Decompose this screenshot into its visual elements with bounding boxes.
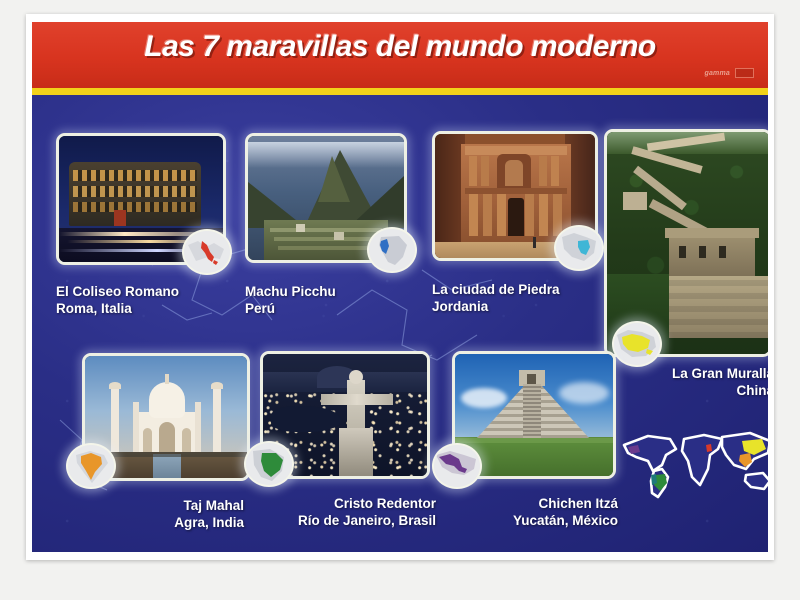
wonder-name: La ciudad de Piedra bbox=[432, 281, 560, 298]
wonder-name: Cristo Redentor bbox=[240, 495, 436, 512]
header-band: Las 7 maravillas del mundo moderno gamma bbox=[32, 22, 768, 88]
publisher-name: gamma bbox=[704, 70, 730, 77]
wonder-location: Río de Janeiro, Brasil bbox=[240, 512, 436, 529]
wonder-location: Yucatán, México bbox=[424, 512, 618, 529]
page-title: Las 7 maravillas del mundo moderno bbox=[32, 30, 768, 64]
caption-taj-mahal: Taj Mahal Agra, India bbox=[54, 497, 244, 531]
wonder-location: Jordania bbox=[432, 298, 560, 315]
poster-frame: Las 7 maravillas del mundo moderno gamma bbox=[26, 14, 774, 560]
wonder-name: Taj Mahal bbox=[54, 497, 244, 514]
wonder-card-machu-picchu[interactable]: Machu Picchu Perú bbox=[245, 133, 440, 333]
caption-machu-picchu: Machu Picchu Perú bbox=[245, 283, 336, 317]
wonder-card-petra[interactable]: La ciudad de Piedra Jordania bbox=[432, 131, 632, 331]
caption-chichen-itza: Chichen Itzá Yucatán, México bbox=[424, 495, 618, 529]
badge-mexico bbox=[432, 443, 482, 489]
map-highlight-peru bbox=[651, 474, 657, 485]
caption-coliseo: El Coliseo Romano Roma, Italia bbox=[56, 283, 179, 317]
wonder-card-gran-muralla[interactable]: La Gran Muralla China bbox=[604, 129, 768, 419]
badge-jordania bbox=[554, 225, 604, 271]
wonder-card-coliseo[interactable]: El Coliseo Romano Roma, Italia bbox=[56, 133, 256, 333]
badge-brasil bbox=[244, 441, 294, 487]
poster: Las 7 maravillas del mundo moderno gamma bbox=[32, 22, 768, 552]
caption-petra: La ciudad de Piedra Jordania bbox=[432, 281, 560, 315]
wonder-name: Chichen Itzá bbox=[424, 495, 618, 512]
wonder-location: Agra, India bbox=[54, 514, 244, 531]
wonder-card-chichen-itza[interactable]: Chichen Itzá Yucatán, México bbox=[424, 351, 624, 541]
world-map-graphic bbox=[618, 425, 768, 503]
badge-india bbox=[66, 443, 116, 489]
badge-peru bbox=[367, 227, 417, 273]
yellow-divider bbox=[32, 88, 768, 95]
publisher-logo: gamma bbox=[704, 68, 754, 78]
wonder-name: El Coliseo Romano bbox=[56, 283, 179, 300]
wonder-location: Roma, Italia bbox=[56, 300, 179, 317]
wonder-location: Perú bbox=[245, 300, 336, 317]
wonder-card-cristo-redentor[interactable]: Cristo Redentor Río de Janeiro, Brasil bbox=[240, 351, 440, 541]
publisher-chip-icon bbox=[735, 68, 754, 78]
wonder-card-taj-mahal[interactable]: Taj Mahal Agra, India bbox=[54, 353, 254, 543]
wonder-name: Machu Picchu bbox=[245, 283, 336, 300]
caption-cristo-redentor: Cristo Redentor Río de Janeiro, Brasil bbox=[240, 495, 436, 529]
badge-italia bbox=[182, 229, 232, 275]
map-highlight-italia bbox=[706, 444, 712, 452]
content-board: El Coliseo Romano Roma, Italia bbox=[32, 95, 768, 552]
